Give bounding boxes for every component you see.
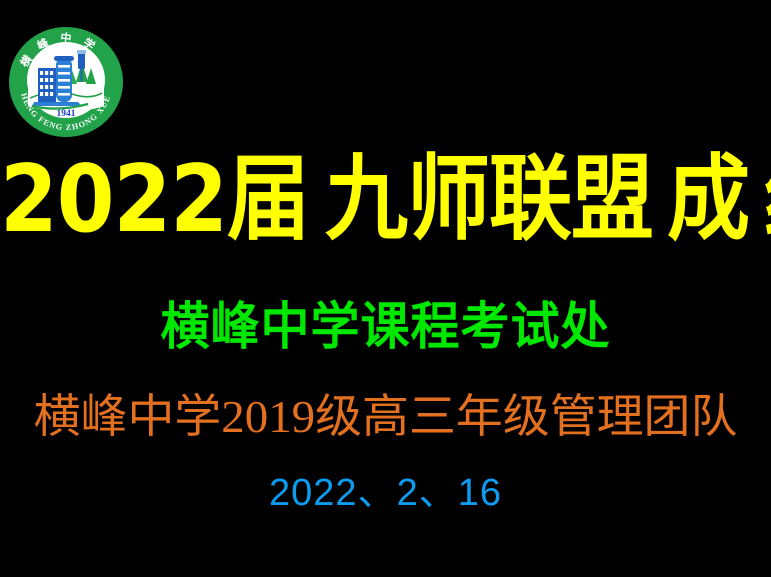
title-alliance: 九师联盟 [325,145,653,254]
slide-main-title: 2022届九师联盟成绩分析 [0,139,771,260]
slide-subtitle-department: 横峰中学课程考试处 [0,295,771,359]
school-logo: 1941 横峰中学 HENG FENG ZHONG XUE [8,26,124,138]
presentation-slide: 1941 横峰中学 HENG FENG ZHONG XUE 2022届九师联盟成… [0,0,771,577]
slide-date: 2022、2、16 [0,468,771,518]
slide-subtitle-team: 横峰中学2019级高三年级管理团队 [0,388,771,446]
logo-founded-year: 1941 [57,109,76,119]
title-year: 2022届 [0,145,309,254]
title-analysis: 成绩分析 [667,145,771,254]
